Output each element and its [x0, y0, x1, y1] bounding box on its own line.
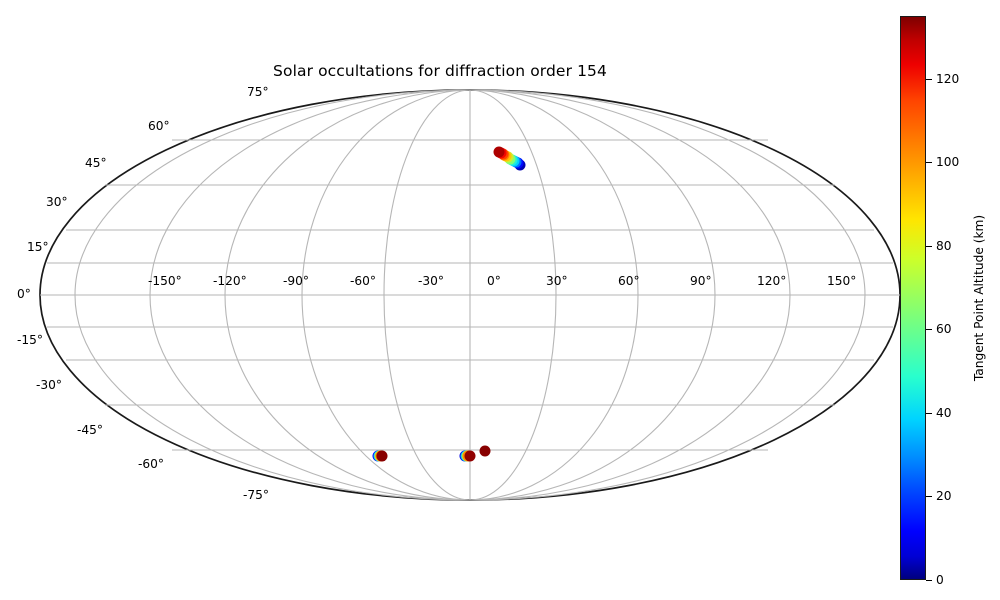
colorbar-tick-label: 0: [936, 573, 944, 587]
colorbar-gradient: [900, 16, 926, 580]
colorbar-tick: [926, 413, 932, 414]
colorbar-tick: [926, 580, 932, 581]
colorbar-tick-label: 100: [936, 155, 959, 169]
colorbar-tick: [926, 496, 932, 497]
scatter-point: [464, 450, 475, 461]
scatter-layer: [0, 0, 900, 600]
colorbar-axis-label: Tangent Point Altitude (km): [972, 215, 986, 381]
scatter-point: [480, 446, 491, 457]
scatter-point: [377, 450, 388, 461]
colorbar-tick: [926, 162, 932, 163]
figure-canvas: Solar occultations for diffraction order…: [0, 0, 1000, 600]
colorbar-tick-label: 120: [936, 72, 959, 86]
colorbar-tick-label: 80: [936, 239, 952, 253]
colorbar-tick: [926, 246, 932, 247]
colorbar-tick: [926, 79, 932, 80]
colorbar-tick-label: 60: [936, 322, 952, 336]
colorbar-tick: [926, 329, 932, 330]
colorbar-tick-label: 20: [936, 489, 952, 503]
colorbar: 020406080100120 Tangent Point Altitude (…: [900, 16, 1000, 582]
scatter-point: [494, 146, 505, 157]
mollweide-map: 75° 60° 45° 30° 15° 0° -15° -30° -45° -6…: [0, 0, 900, 600]
colorbar-tick-label: 40: [936, 406, 952, 420]
